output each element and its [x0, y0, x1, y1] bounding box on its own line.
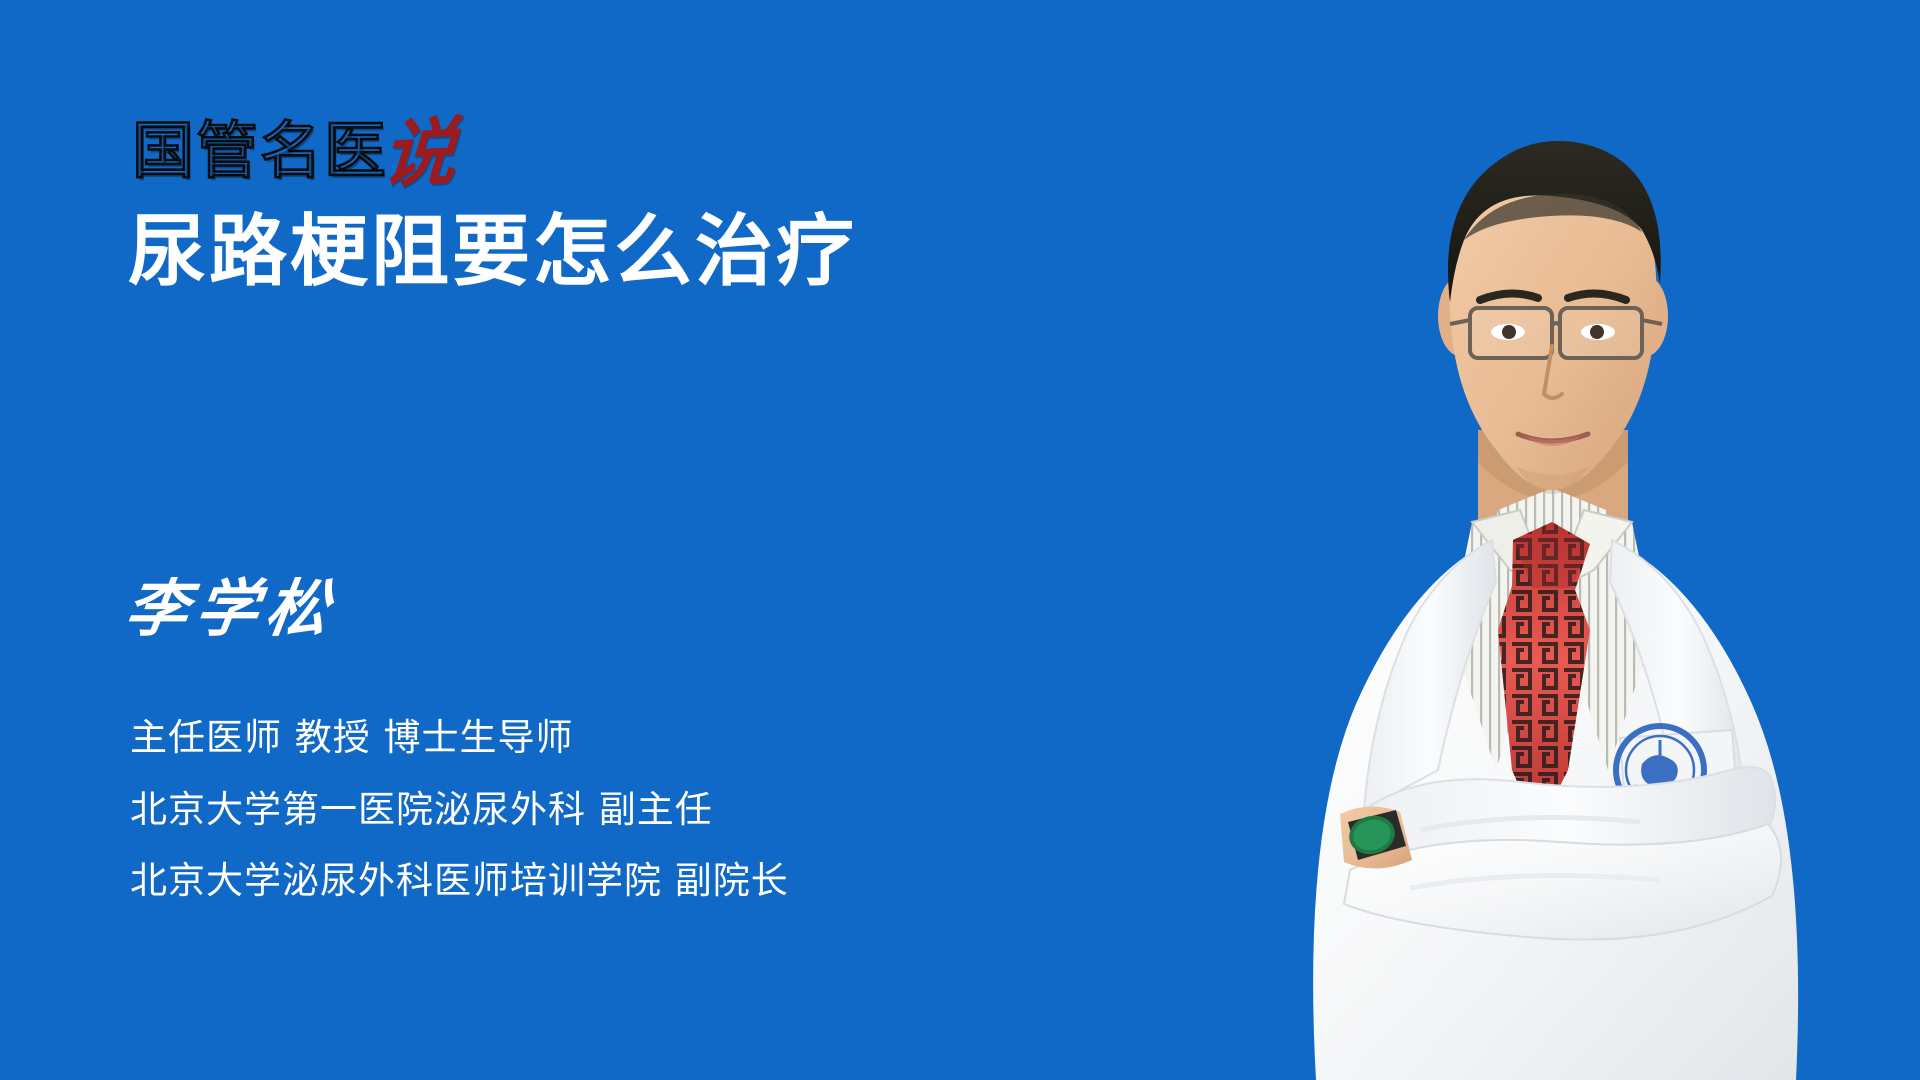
doctor-portrait-photo: 中国医药信息查询平台 [1120, 70, 1920, 1080]
program-logo: 国管名医 说 [132, 96, 456, 182]
slide-title: 尿路梗阻要怎么治疗 [128, 208, 857, 298]
doctor-name: 李学松 [122, 578, 341, 640]
program-logo-main-text: 国管名医 [132, 120, 388, 182]
slide-canvas: 国管名医 说 尿路梗阻要怎么治疗 李学松 主任医师 教授 博士生导师 北京大学第… [0, 0, 1920, 1080]
program-logo-accent-text: 说 [380, 118, 458, 190]
credential-line: 主任医师 教授 博士生导师 [130, 718, 789, 759]
doctor-credentials: 主任医师 教授 博士生导师 北京大学第一医院泌尿外科 副主任 北京大学泌尿外科医… [130, 718, 789, 902]
credential-line: 北京大学第一医院泌尿外科 副主任 [130, 790, 789, 831]
credential-line: 北京大学泌尿外科医师培训学院 副院长 [130, 861, 789, 902]
